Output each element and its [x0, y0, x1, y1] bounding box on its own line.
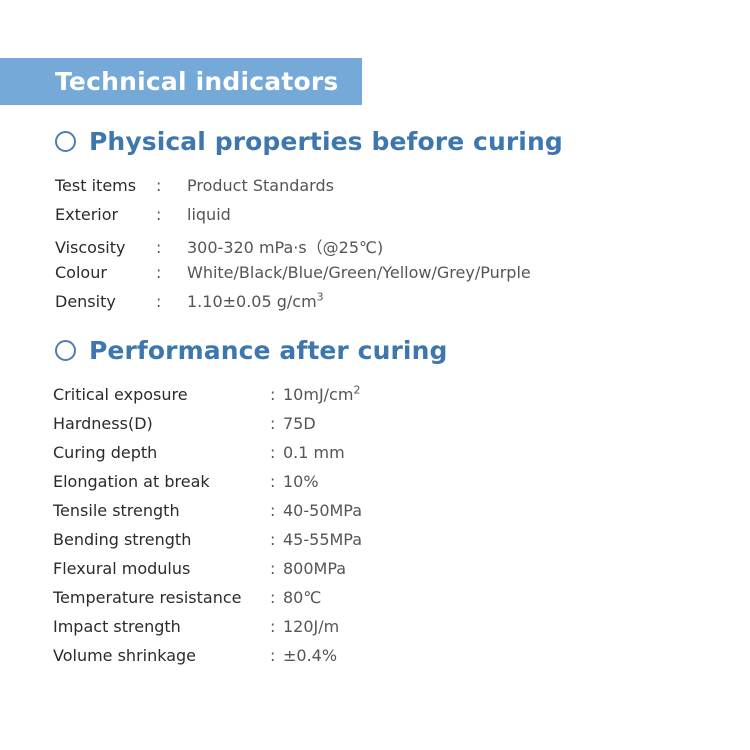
section-physical-properties-before-curing: Physical properties before curing Test i… — [0, 122, 750, 321]
table-row: Test items : Product Standards — [55, 176, 750, 205]
spec-label: Viscosity — [55, 238, 156, 257]
spec-label: Colour — [55, 263, 156, 282]
spec-value: 45-55MPa — [283, 530, 362, 549]
spec-colon: : — [270, 559, 283, 578]
spec-label: Temperature resistance — [53, 588, 270, 607]
table-row: Flexural modulus : 800MPa — [53, 559, 750, 588]
spec-label: Bending strength — [53, 530, 270, 549]
spec-value: 75D — [283, 414, 316, 433]
spec-value: Product Standards — [187, 176, 334, 195]
spec-colon: : — [270, 472, 283, 491]
spec-label: Curing depth — [53, 443, 270, 462]
table-row: Temperature resistance : 80℃ — [53, 588, 750, 617]
spec-value-superscript: 3 — [317, 291, 324, 304]
spec-label: Exterior — [55, 205, 156, 224]
technical-indicators-banner: Technical indicators — [0, 58, 362, 105]
spec-table-before-curing: Test items : Product Standards Exterior … — [0, 176, 750, 321]
spec-value: 1.10±0.05 g/cm3 — [187, 292, 324, 311]
spec-colon: : — [270, 443, 283, 462]
spec-label: Flexural modulus — [53, 559, 270, 578]
spec-colon: : — [270, 530, 283, 549]
table-row: Elongation at break : 10% — [53, 472, 750, 501]
spec-colon: : — [270, 588, 283, 607]
section-performance-after-curing: Performance after curing Critical exposu… — [0, 331, 750, 675]
spec-value: 0.1 mm — [283, 443, 345, 462]
section-heading: Physical properties before curing — [0, 122, 750, 160]
table-row: Bending strength : 45-55MPa — [53, 530, 750, 559]
circle-outline-icon — [55, 340, 76, 361]
spec-colon: : — [156, 205, 187, 224]
spec-value: ±0.4% — [283, 646, 337, 665]
table-row: Colour : White/Black/Blue/Green/Yellow/G… — [55, 263, 750, 292]
spec-label: Elongation at break — [53, 472, 270, 491]
spec-value: liquid — [187, 205, 231, 224]
spec-value: 40-50MPa — [283, 501, 362, 520]
spec-value: 80℃ — [283, 588, 321, 607]
spec-value: 10mJ/cm2 — [283, 385, 360, 404]
table-row: Curing depth : 0.1 mm — [53, 443, 750, 472]
spec-value: White/Black/Blue/Green/Yellow/Grey/Purpl… — [187, 263, 531, 282]
spec-value: 120J/m — [283, 617, 339, 636]
spec-table-after-curing: Critical exposure : 10mJ/cm2 Hardness(D)… — [0, 385, 750, 675]
spec-value-text: 10mJ/cm — [283, 385, 353, 404]
section-heading: Performance after curing — [0, 331, 750, 369]
section-heading-label: Performance after curing — [89, 336, 447, 365]
table-row: Critical exposure : 10mJ/cm2 — [53, 385, 750, 414]
spec-colon: : — [270, 617, 283, 636]
spec-label: Density — [55, 292, 156, 311]
table-row: Tensile strength : 40-50MPa — [53, 501, 750, 530]
spec-label: Test items — [55, 176, 156, 195]
spec-label: Critical exposure — [53, 385, 270, 404]
spec-value: 10% — [283, 472, 319, 491]
table-row: Viscosity : 300-320 mPa·s（@25℃) — [55, 234, 750, 263]
spec-value-text: 1.10±0.05 g/cm — [187, 292, 317, 311]
spec-colon: : — [156, 292, 187, 311]
table-row: Density : 1.10±0.05 g/cm3 — [55, 292, 750, 321]
spec-value: 300-320 mPa·s（@25℃) — [187, 234, 383, 258]
spec-colon: : — [270, 385, 283, 404]
spec-value-superscript: 2 — [353, 384, 360, 397]
banner-title: Technical indicators — [0, 67, 339, 96]
spec-colon: : — [156, 263, 187, 282]
spec-colon: : — [270, 646, 283, 665]
spec-label: Impact strength — [53, 617, 270, 636]
spec-label: Volume shrinkage — [53, 646, 270, 665]
spec-value: 800MPa — [283, 559, 346, 578]
spec-colon: : — [156, 238, 187, 257]
table-row: Hardness(D) : 75D — [53, 414, 750, 443]
spec-colon: : — [270, 501, 283, 520]
spec-label: Tensile strength — [53, 501, 270, 520]
spec-colon: : — [156, 176, 187, 195]
circle-outline-icon — [55, 131, 76, 152]
section-heading-label: Physical properties before curing — [89, 127, 563, 156]
table-row: Volume shrinkage : ±0.4% — [53, 646, 750, 675]
table-row: Impact strength : 120J/m — [53, 617, 750, 646]
spec-colon: : — [270, 414, 283, 433]
table-row: Exterior : liquid — [55, 205, 750, 234]
spec-label: Hardness(D) — [53, 414, 270, 433]
